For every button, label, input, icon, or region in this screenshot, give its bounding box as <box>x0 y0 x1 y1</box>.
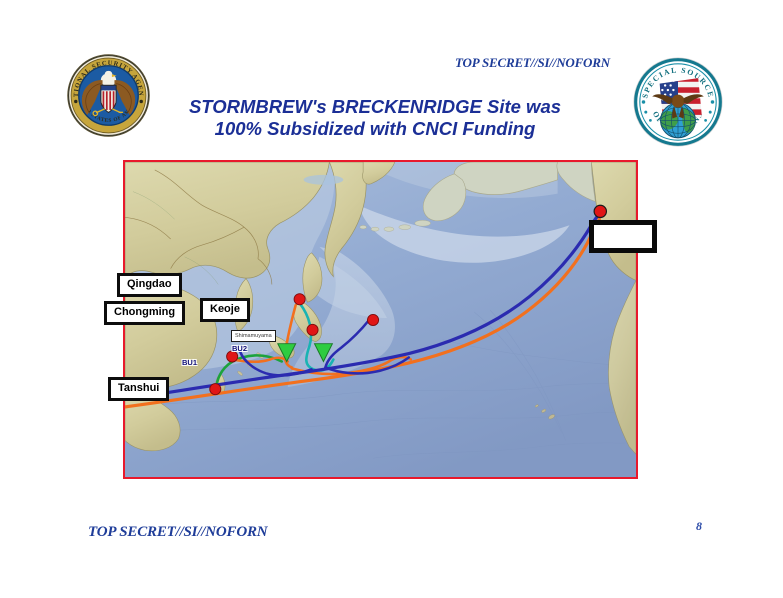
redacted-site-label <box>589 220 657 253</box>
classification-banner-bottom: TOP SECRET//SI//NOFORN <box>88 524 267 541</box>
page-number: 8 <box>696 519 702 534</box>
classification-banner-top: TOP SECRET//SI//NOFORN <box>455 55 610 71</box>
nsa-seal: NATIONAL SECURITY AGENCY UNITED STATES O… <box>66 53 151 138</box>
map-label-chongming[interactable]: Chongming <box>104 301 185 325</box>
map-label-tanshui[interactable]: Tanshui <box>108 377 169 401</box>
nsa-seal-graphic: NATIONAL SECURITY AGENCY UNITED STATES O… <box>66 53 151 138</box>
page-title-line1: STORMBREW's BRECKENRIDGE Site was <box>150 96 600 118</box>
map-label-qingdao[interactable]: Qingdao <box>117 273 182 297</box>
map-label-bu2: BU2 <box>232 344 247 353</box>
sso-seal-graphic: SPECIAL SOURCE OPERATIONS <box>632 56 724 148</box>
slide: TOP SECRET//SI//NOFORN NATIONAL SECURITY… <box>0 0 783 598</box>
sso-seal: SPECIAL SOURCE OPERATIONS <box>632 56 724 148</box>
map-label-bu1: BU1 <box>182 358 197 367</box>
map-label-keoje[interactable]: Keoje <box>200 298 250 322</box>
globe-glyph <box>661 103 696 138</box>
page-title-line2: 100% Subsidized with CNCI Funding <box>150 118 600 140</box>
page-title: STORMBREW's BRECKENRIDGE Site was 100% S… <box>150 96 600 140</box>
map-label-shimamuyama[interactable]: Shimamuyama <box>231 330 276 342</box>
